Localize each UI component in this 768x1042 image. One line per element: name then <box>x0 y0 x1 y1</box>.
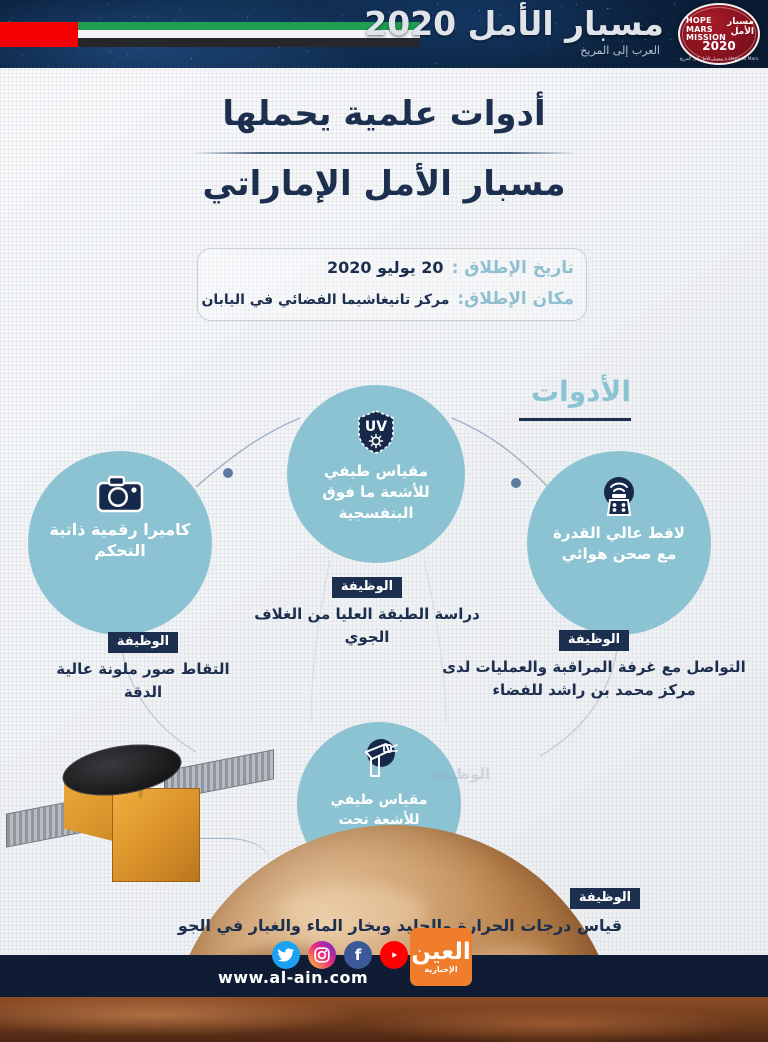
tool-label-antenna: لاقط عالي القدرة مع صحن هوائي <box>527 523 711 565</box>
infrared-thermometer-icon <box>356 738 402 784</box>
page-title-line2: مسبار الأمل الإماراتي <box>0 162 768 206</box>
connector-node-left <box>223 468 233 478</box>
function-block-ir: الوظيفة قياس درجات الحرارة والجليد وبخار… <box>140 886 660 937</box>
function-block-camera: الوظيفة التقاط صور ملونة عالية الدقة <box>38 630 248 704</box>
tools-section-heading: الأدوات <box>531 375 631 408</box>
function-badge: الوظيفة <box>570 888 640 909</box>
badge-year: 2020 <box>678 39 760 53</box>
instagram-icon[interactable] <box>308 941 336 969</box>
launch-info-box: تاريخ الإطلاق : 20 يوليو 2020 مكان الإطل… <box>197 248 587 321</box>
facebook-icon[interactable]: f <box>344 941 372 969</box>
connector-node-right <box>511 478 521 488</box>
tools-section-underline <box>519 418 631 421</box>
launch-place-label: مكان الإطلاق: <box>457 289 574 309</box>
camera-icon <box>96 475 144 513</box>
launch-date-value: 20 يوليو 2020 <box>327 258 444 277</box>
uv-shield-icon: UV <box>355 409 397 455</box>
flag-red-band <box>0 22 78 47</box>
function-watermark: الوظيفة <box>430 765 490 783</box>
flag-green-stripe <box>78 22 224 30</box>
tool-label-uv: مقياس طيفي للأشعة ما فوق البنفسجية <box>287 461 465 524</box>
badge-arc-text: Hope to Mars • مسبار الأمل إلى المريخ <box>678 57 760 62</box>
header-title: مسبار الأمل 2020 <box>364 4 664 43</box>
flag-black-stripe <box>78 38 224 47</box>
function-block-antenna: الوظيفة التواصل مع غرفة المراقبة والعملي… <box>430 628 758 702</box>
twitter-icon[interactable] <box>272 941 300 969</box>
tool-circle-uv-spectrometer[interactable]: UV مقياس طيفي للأشعة ما فوق البنفسجية <box>287 385 465 563</box>
uae-flag <box>0 22 224 47</box>
youtube-icon[interactable] <box>380 941 408 969</box>
flag-white-stripe <box>78 30 224 38</box>
svg-text:UV: UV <box>365 419 387 435</box>
launch-date-label: تاريخ الإطلاق : <box>452 258 574 278</box>
website-url[interactable]: www.al-ain.com <box>218 968 368 987</box>
hope-probe-spacecraft-illustration <box>4 742 254 900</box>
mission-badge-logo: HOPE MARS MISSION مسبار الأمل 2020 Hope … <box>678 3 760 65</box>
page-title-line1: أدوات علمية يحملها <box>0 92 768 136</box>
al-ain-logo[interactable]: العين الإخبارية <box>410 928 472 986</box>
function-badge: الوظيفة <box>108 632 178 653</box>
header-subtitle: العرب إلى المريخ <box>580 44 660 57</box>
title-divider <box>192 152 576 154</box>
social-links: f <box>258 941 408 969</box>
badge-arabic-text: مسبار الأمل <box>718 17 754 37</box>
launch-date-row: تاريخ الإطلاق : 20 يوليو 2020 <box>327 258 574 278</box>
tool-label-camera: كاميرا رقمية ذاتية التحكم <box>28 519 212 561</box>
function-badge: الوظيفة <box>332 577 402 598</box>
function-text-ir: قياس درجات الحرارة والجليد وبخار الماء و… <box>140 914 660 937</box>
tool-circle-antenna[interactable]: لاقط عالي القدرة مع صحن هوائي <box>527 451 711 635</box>
brand-tagline: الإخبارية <box>424 965 457 974</box>
function-badge: الوظيفة <box>559 630 629 651</box>
tool-circle-camera[interactable]: كاميرا رقمية ذاتية التحكم <box>28 451 212 635</box>
mars-surface-strip <box>0 997 768 1042</box>
page-header: مسبار الأمل 2020 العرب إلى المريخ HOPE M… <box>0 0 768 68</box>
brand-name: العين <box>411 940 471 964</box>
infographic-page: مسبار الأمل 2020 العرب إلى المريخ HOPE M… <box>0 0 768 1042</box>
antenna-icon <box>597 475 641 517</box>
launch-place-value: مركز تانيغاشيما الفضائي في اليابان <box>201 292 449 308</box>
function-text-antenna: التواصل مع غرفة المراقبة والعمليات لدى م… <box>430 656 758 702</box>
function-text-camera: التقاط صور ملونة عالية الدقة <box>38 658 248 704</box>
spacecraft-body <box>112 788 200 882</box>
launch-place-row: مكان الإطلاق: مركز تانيغاشيما الفضائي في… <box>201 289 574 309</box>
